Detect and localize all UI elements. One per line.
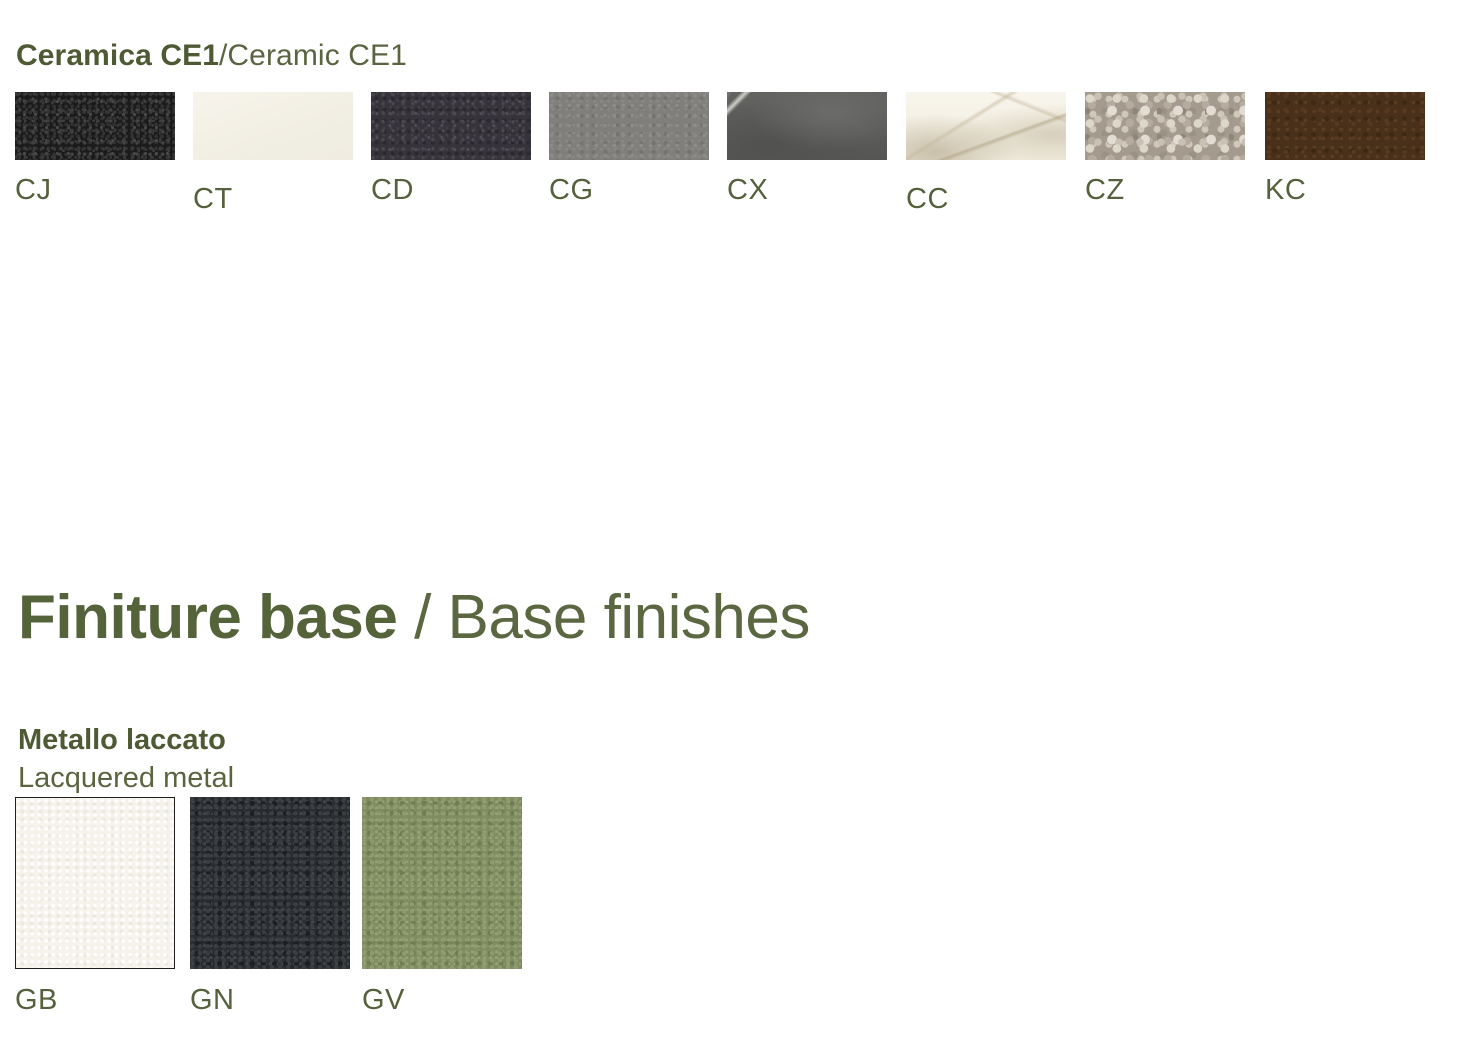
ceramic-heading-italian: Ceramica CE1 [16,39,219,72]
swatch-label-cz: CZ [1085,176,1245,205]
swatch-cell-cz[interactable]: CZ [1085,92,1245,205]
swatch-tile-kc[interactable] [1265,92,1425,160]
swatch-cell-cd[interactable]: CD [371,92,531,205]
swatch-cell-cj[interactable]: CJ [15,92,175,205]
swatch-tile-cz[interactable] [1085,92,1245,160]
swatch-tile-gb[interactable] [15,797,175,969]
base-title-english: / Base finishes [414,583,810,652]
swatch-label-ct: CT [193,185,353,214]
swatch-cell-gn[interactable]: GN [190,797,350,1015]
base-title-italian: Finiture base [18,583,397,652]
swatch-label-gb: GB [15,986,175,1015]
swatch-label-gn: GN [190,986,350,1015]
base-finishes-page-title: Finiture base / Base finishes [18,587,810,649]
swatch-tile-ct[interactable] [193,92,353,160]
swatch-cell-cx[interactable]: CX [727,92,887,205]
swatch-cell-cg[interactable]: CG [549,92,709,205]
swatch-label-cj: CJ [15,176,175,205]
swatch-label-gv: GV [362,986,522,1015]
swatch-tile-cg[interactable] [549,92,709,160]
swatch-cell-gv[interactable]: GV [362,797,522,1015]
swatch-tile-cj[interactable] [15,92,175,160]
lacquered-metal-heading: Metallo laccato Lacquered metal [18,721,234,798]
swatch-tile-gn[interactable] [190,797,350,969]
swatch-tile-cx[interactable] [727,92,887,160]
ceramic-section-heading: Ceramica CE1/Ceramic CE1 [16,39,407,72]
swatch-label-kc: KC [1265,176,1425,205]
swatch-label-cg: CG [549,176,709,205]
ceramic-heading-english: /Ceramic CE1 [219,39,407,72]
swatch-label-cc: CC [906,185,1066,214]
swatch-cell-ct[interactable]: CT [193,92,353,214]
swatch-cell-gb[interactable]: GB [15,797,175,1015]
swatch-cell-kc[interactable]: KC [1265,92,1425,205]
material-name-english: Lacquered metal [18,759,234,797]
swatch-tile-cc[interactable] [906,92,1066,160]
material-name-italian: Metallo laccato [18,721,234,759]
swatch-cell-cc[interactable]: CC [906,92,1066,214]
swatch-tile-gv[interactable] [362,797,522,969]
swatch-tile-cd[interactable] [371,92,531,160]
swatch-label-cd: CD [371,176,531,205]
base-swatch-row: GB GN GV [0,797,1478,1027]
ceramic-swatch-row: CJ CT CD CG CX CC CZ KC [0,92,1478,212]
swatch-label-cx: CX [727,176,887,205]
